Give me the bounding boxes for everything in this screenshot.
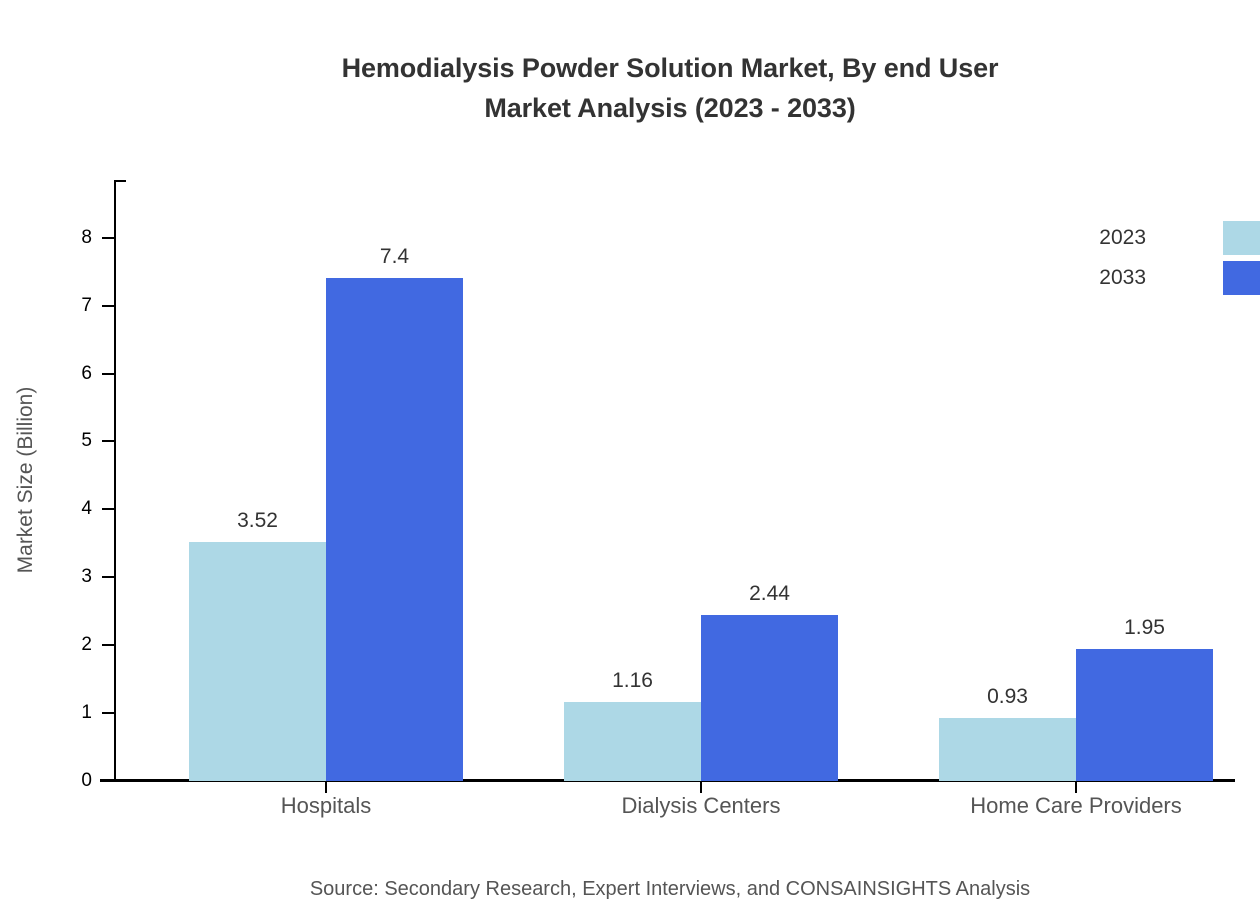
bar-value-label: 3.52 [237, 509, 278, 533]
y-axis-tick: 7 [102, 305, 114, 307]
y-axis-tick-label: 6 [81, 363, 92, 385]
bar-2033-dialysis-centers[interactable] [701, 615, 838, 781]
y-axis-tick: 2 [102, 644, 114, 646]
y-axis-top-cap [114, 180, 126, 182]
legend-item-2033[interactable]: 2033 [1120, 261, 1260, 295]
bar-value-label: 1.16 [612, 669, 653, 693]
legend-item-2023[interactable]: 2023 [1120, 221, 1260, 255]
chart-title-line-1: Hemodialysis Powder Solution Market, By … [0, 48, 1260, 88]
y-axis-tick-label: 7 [81, 295, 92, 317]
y-axis-tick-label: 0 [81, 770, 92, 792]
y-axis-tick: 3 [102, 576, 114, 578]
x-axis-tick [325, 781, 327, 793]
x-axis-tick [700, 781, 702, 793]
y-axis-tick: 1 [102, 712, 114, 714]
bar-2023-hospitals[interactable] [189, 542, 326, 781]
chart-legend: 20232033 [1120, 221, 1260, 301]
y-axis-tick-label: 2 [81, 634, 92, 656]
plot-area: 012345678 3.527.41.162.440.931.95 Hospit… [114, 180, 1235, 781]
x-axis-tick-label-home-care-providers: Home Care Providers [970, 793, 1182, 819]
y-axis-tick: 8 [102, 237, 114, 239]
legend-swatch-2033 [1223, 261, 1260, 295]
bar-value-label: 7.4 [380, 245, 409, 269]
source-note: Source: Secondary Research, Expert Inter… [0, 878, 1260, 901]
y-axis-tick: 4 [102, 508, 114, 510]
legend-label-2023: 2023 [1099, 226, 1146, 250]
chart-title: Hemodialysis Powder Solution Market, By … [0, 48, 1260, 128]
y-axis-tick-label: 1 [81, 702, 92, 724]
y-axis-tick-label: 3 [81, 566, 92, 588]
x-axis-tick [1075, 781, 1077, 793]
y-axis-label: Market Size (Billion) [14, 387, 38, 574]
y-axis-tick: 6 [102, 373, 114, 375]
bar-2033-hospitals[interactable] [326, 278, 463, 781]
chart-title-line-2: Market Analysis (2023 - 2033) [0, 88, 1260, 128]
legend-label-2033: 2033 [1099, 266, 1146, 290]
legend-swatch-2023 [1223, 221, 1260, 255]
y-axis-tick: 5 [102, 440, 114, 442]
y-axis-tick-label: 5 [81, 430, 92, 452]
y-axis-tick-label: 8 [81, 227, 92, 249]
y-axis-spine [114, 180, 116, 781]
x-axis-tick-label-hospitals: Hospitals [281, 793, 371, 819]
bar-2033-home-care-providers[interactable] [1076, 649, 1213, 781]
x-axis-tick-label-dialysis-centers: Dialysis Centers [622, 793, 781, 819]
bar-value-label: 0.93 [987, 685, 1028, 709]
bar-value-label: 2.44 [749, 582, 790, 606]
y-axis-tick-label: 4 [81, 498, 92, 520]
bar-2023-home-care-providers[interactable] [939, 718, 1076, 781]
y-axis-tick: 0 [102, 780, 114, 782]
bar-2023-dialysis-centers[interactable] [564, 702, 701, 781]
chart-figure: Hemodialysis Powder Solution Market, By … [0, 0, 1260, 920]
bar-value-label: 1.95 [1124, 616, 1165, 640]
